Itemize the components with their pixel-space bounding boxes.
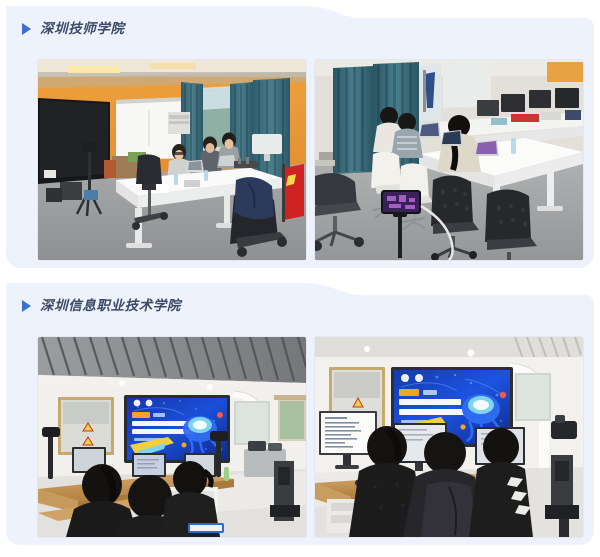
school-section-shenzhen-institute-of-information-technology: 深圳信息职业技术学院 <box>6 283 594 545</box>
photo-illustration <box>38 60 306 260</box>
photo-illustration <box>38 337 306 537</box>
smart-lab-blue-screen-wide-photo[interactable] <box>38 337 306 537</box>
section-title: 深圳信息职业技术学院 <box>40 299 181 313</box>
photo-row-0 <box>38 60 586 260</box>
classroom-orange-wall-whiteboard-photo[interactable] <box>38 60 306 260</box>
photo-illustration <box>315 337 583 537</box>
computer-lab-students-laptops-tripod-photo[interactable] <box>315 60 583 260</box>
section-title: 深圳技师学院 <box>40 22 125 36</box>
section-header-0: 深圳技师学院 <box>22 18 125 40</box>
triangle-right-icon <box>22 23 31 35</box>
photo-gallery-page: 深圳技师学院 <box>0 0 600 557</box>
triangle-right-icon <box>22 300 31 312</box>
smart-lab-three-students-back-photo[interactable] <box>315 337 583 537</box>
section-header-1: 深圳信息职业技术学院 <box>22 295 181 317</box>
photo-illustration <box>315 60 583 260</box>
school-section-shenzhen-technician-college: 深圳技师学院 <box>6 6 594 268</box>
photo-row-1 <box>38 337 586 537</box>
